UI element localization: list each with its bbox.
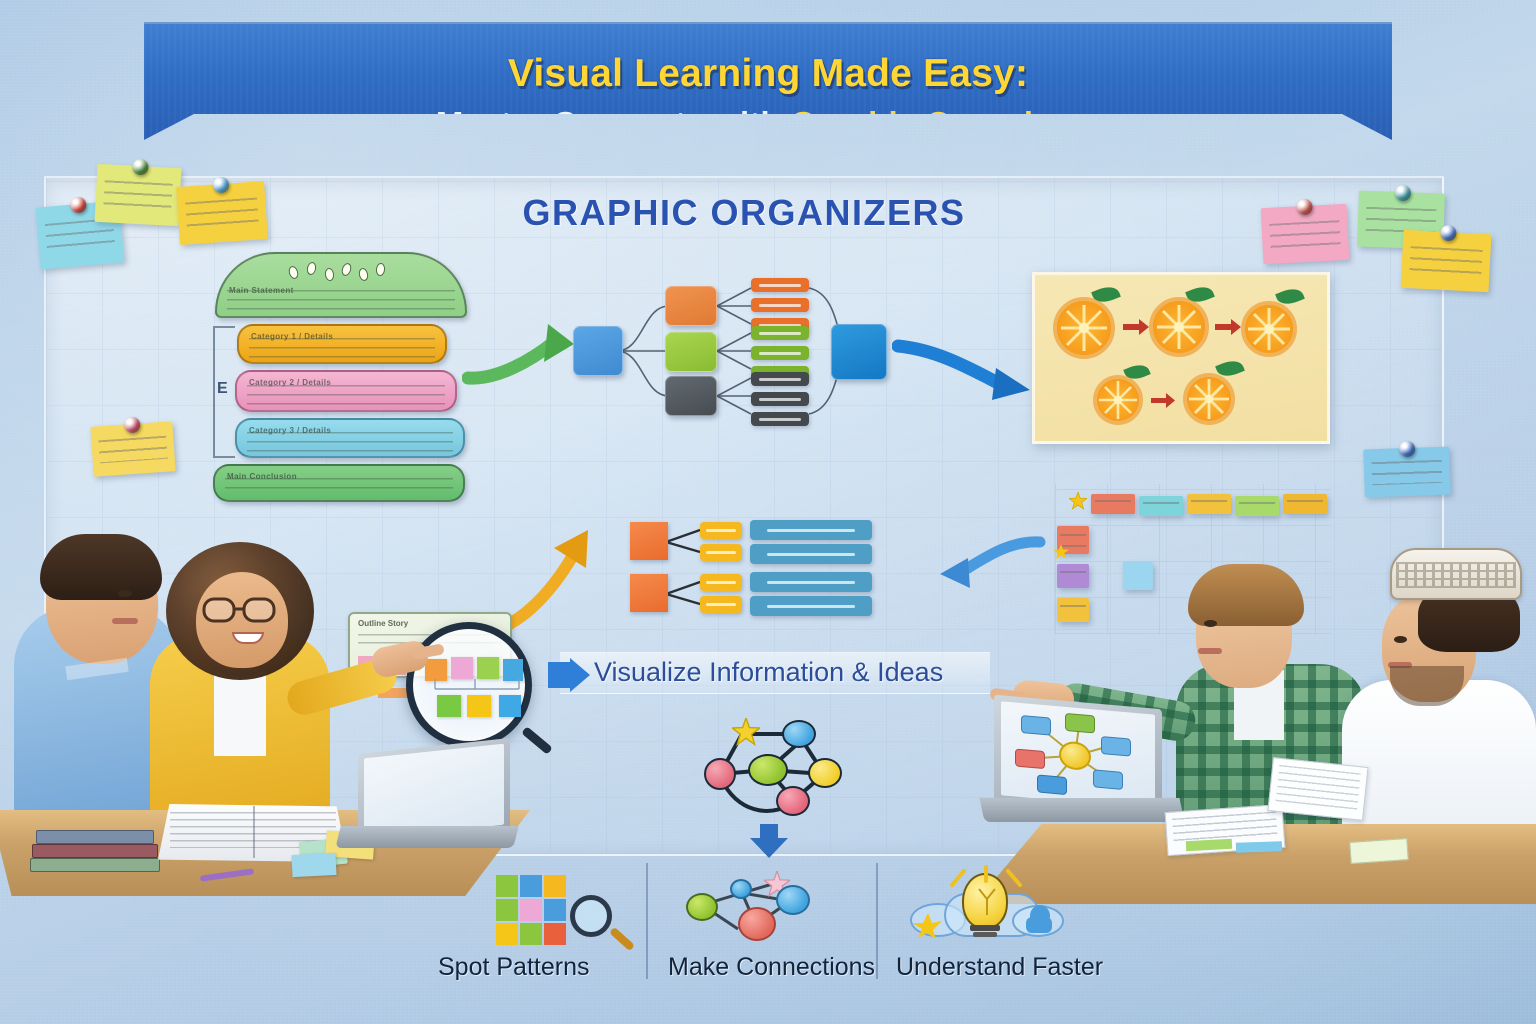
mindmap-node-1 — [1021, 715, 1051, 736]
flow-leaf-orange-1 — [751, 278, 809, 292]
book-stack-top — [36, 830, 154, 844]
branching-flowchart-organizer — [565, 276, 895, 426]
mindmap-node-4 — [1015, 748, 1045, 769]
footer-label-1: Make Connections — [668, 953, 875, 982]
layer-rules-1 — [249, 338, 435, 358]
sticky-note-top-right-pink — [1261, 204, 1350, 264]
sticky-note-lines — [44, 218, 115, 252]
layer-main-statement: Main Statement — [215, 252, 467, 318]
student-group-left — [0, 534, 530, 894]
layer-rules-0 — [227, 290, 455, 310]
bulb-rays — [942, 865, 1034, 893]
sticky-note-lines — [1409, 246, 1482, 276]
connection-node-red — [738, 907, 776, 941]
tree-detail-1-1 — [750, 596, 872, 616]
footer-divider-1 — [646, 863, 648, 979]
flow-sink-node — [831, 324, 887, 380]
star-icon — [732, 718, 760, 746]
student-left-male-mouth — [112, 618, 138, 624]
mindmap-node-2 — [1065, 713, 1095, 734]
layer-main-conclusion: Main Conclusion — [213, 464, 465, 502]
center-caption: Visualize Information & Ideas — [594, 657, 943, 688]
star-icon — [1069, 492, 1087, 510]
banner-title-line2: Master Concepts with Graphic Organizers — [144, 105, 1392, 143]
magnifier-icon — [570, 895, 612, 937]
laptop-right-base — [979, 798, 1184, 822]
tree-mid-0-0 — [700, 522, 742, 539]
bulb-base — [970, 925, 1000, 931]
mindmap-node-6 — [1093, 769, 1123, 790]
footer-label-0: Spot Patterns — [438, 953, 589, 982]
footer-icon-spot-patterns — [466, 869, 636, 943]
book-stack-bottom — [30, 858, 160, 872]
layer-rules-4 — [225, 478, 453, 497]
flow-branch-orange — [665, 286, 717, 326]
blue-arrow-flow-to-fruit — [892, 328, 1037, 400]
flow-leaf-green-1 — [751, 326, 809, 340]
layer-category-2: Category 2 / Details — [235, 370, 457, 412]
notebook-page — [1267, 757, 1368, 821]
laptop-left-base — [335, 826, 518, 848]
matrix-col-header-3 — [1235, 496, 1279, 516]
flow-leaf-gray-3 — [751, 412, 809, 426]
orange-slice-sequence-organizer — [1032, 272, 1330, 444]
sticky-note-lines — [99, 436, 168, 464]
matrix-col-header-2 — [1187, 494, 1231, 514]
sequence-arrow-3 — [1151, 393, 1175, 408]
sticky-note-top-right-gold — [1401, 230, 1492, 293]
flow-branch-gray — [665, 376, 717, 416]
matrix-col-header-0 — [1091, 494, 1135, 514]
sticky-note-mid-left-yellow — [90, 421, 175, 477]
sticky-note-lines — [185, 198, 259, 230]
flow-leaf-gray-2 — [751, 392, 809, 406]
pushpin-icon — [124, 416, 141, 433]
student-right-male-mouth — [1198, 648, 1222, 654]
right-arrow-icon — [548, 658, 592, 692]
mindmap-node-5 — [1037, 774, 1067, 795]
tree-detail-0-1 — [750, 544, 872, 564]
tree-mid-1-0 — [700, 574, 742, 591]
network-node-yellow — [808, 758, 842, 788]
layer-rules-3 — [247, 432, 453, 452]
banner-title-plain: Master Concepts with — [436, 105, 790, 142]
footer-label-2: Understand Faster — [896, 953, 1103, 982]
flow-leaf-green-2 — [751, 346, 809, 360]
layer-category-3: Category 3 / Details — [235, 418, 465, 458]
layered-hamburger-organizer: Main Statement Category 1 / Details Cate… — [205, 252, 475, 502]
pushpin-icon — [1296, 199, 1313, 216]
desk-sticky-blue — [291, 853, 336, 877]
banner-title-highlight: Graphic Organizers — [790, 105, 1100, 142]
tree-detail-0-0 — [750, 520, 872, 540]
student-group-right — [990, 540, 1536, 900]
book-stack-mid — [32, 844, 158, 858]
student-left-male-eye — [118, 590, 132, 597]
tree-root-0 — [630, 522, 668, 560]
footer-benefits: Spot Patterns Make Connections — [430, 855, 1150, 995]
connection-node-blue — [776, 885, 810, 915]
paper-sticky-blue — [1236, 841, 1282, 853]
glasses-icon — [198, 594, 290, 624]
pushpin-icon — [1440, 225, 1457, 242]
green-arrow-left-to-flow — [462, 318, 582, 398]
flow-leaf-gray-1 — [751, 372, 809, 386]
sticky-note-lines — [1371, 460, 1442, 485]
student-left-male-hair — [40, 534, 162, 600]
spark-icon — [912, 913, 946, 939]
seed-cluster-icon — [287, 262, 397, 280]
flow-leaf-orange-2 — [751, 298, 809, 312]
sticky-note-top-left-yellow — [176, 181, 268, 245]
connection-node-green — [686, 893, 718, 921]
desk-note-right — [1349, 838, 1408, 864]
pushpin-icon — [213, 176, 230, 193]
banner-title-line1: Visual Learning Made Easy: — [144, 52, 1392, 96]
network-node-rose — [776, 786, 810, 816]
flow-branch-green — [665, 332, 717, 372]
network-node-green — [748, 754, 788, 786]
footer-divider-2 — [876, 863, 878, 979]
sticky-note-lines — [103, 180, 173, 210]
layer-category-1: Category 1 / Details — [237, 324, 447, 364]
two-row-tree-organizer — [628, 520, 878, 620]
tree-mid-1-1 — [700, 596, 742, 613]
tree-detail-1-0 — [750, 572, 872, 592]
title-banner: Visual Learning Made Easy: Master Concep… — [144, 22, 1392, 140]
student-right-thobe-eye — [1394, 636, 1407, 643]
bracket-label: E — [217, 380, 228, 398]
pushpin-icon — [1399, 441, 1416, 458]
flow-source-node — [573, 326, 623, 376]
matrix-col-header-4 — [1283, 494, 1327, 514]
tree-mid-0-1 — [700, 544, 742, 561]
mindmap-node-3 — [1101, 736, 1131, 757]
pushpin-icon — [132, 159, 149, 176]
tree-root-1 — [630, 574, 668, 612]
layer-rules-2 — [247, 385, 445, 406]
student-left-female-hand — [369, 639, 430, 680]
sticky-note-right-blue — [1363, 447, 1451, 498]
network-node-blue — [782, 720, 816, 748]
student-right-male-eye — [1204, 620, 1217, 627]
node-network-diagram — [690, 712, 860, 822]
student-right-male-hair — [1188, 564, 1304, 626]
footer-icon-understand-faster — [900, 865, 1080, 945]
connection-node-blue-sm — [730, 879, 752, 899]
sticky-note-lines — [1269, 220, 1341, 249]
infographic-canvas: Visual Learning Made Easy: Master Concep… — [0, 0, 1536, 1024]
pushpin-icon — [70, 196, 87, 213]
network-node-pink — [704, 758, 736, 790]
sticky-note-top-left-green — [95, 164, 182, 226]
footer-icon-make-connections — [680, 871, 840, 943]
blue-arrow-down-to-footer — [750, 824, 788, 858]
pushpin-icon — [1395, 185, 1412, 202]
sequence-arrow-2 — [1215, 319, 1241, 335]
matrix-col-header-1 — [1139, 496, 1183, 516]
sequence-arrow-1 — [1123, 319, 1149, 335]
laptop-right-screen — [1001, 701, 1155, 808]
kuma-cap-icon — [1390, 548, 1522, 600]
